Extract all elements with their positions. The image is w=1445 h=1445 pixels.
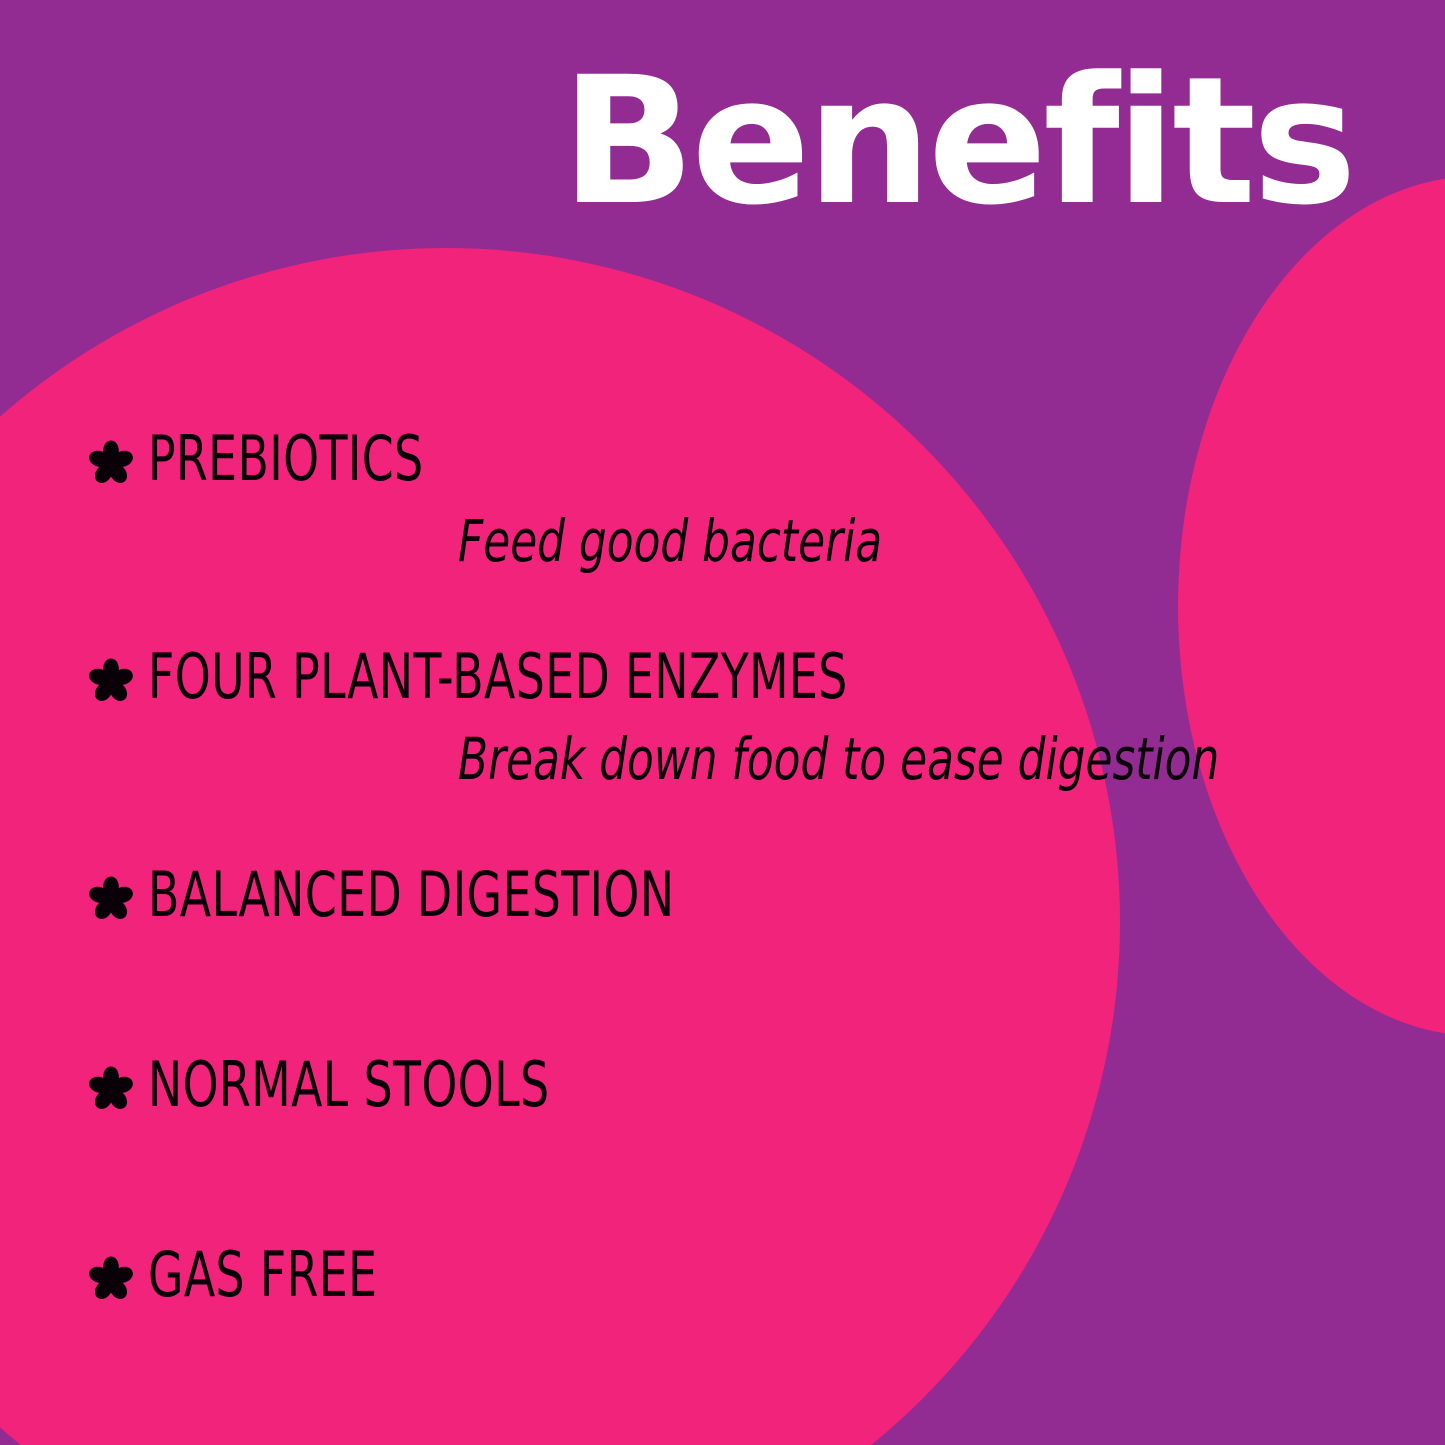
benefit-label: GAS FREE	[148, 1244, 377, 1306]
benefit-heading-row: FOUR PLANT-BASED ENZYMES	[88, 646, 1405, 708]
list-spacer	[88, 570, 1405, 646]
benefit-heading-row: NORMAL STOOLS	[88, 1054, 1405, 1116]
benefits-poster: Benefits PR	[0, 0, 1445, 1445]
benefits-list: PREBIOTICS Feed good bacteria	[88, 428, 1405, 1306]
page-title: Benefits	[0, 52, 1353, 232]
flower-bullet-icon	[88, 864, 140, 926]
benefit-label: BALANCED DIGESTION	[148, 864, 674, 926]
list-item: PREBIOTICS Feed good bacteria	[88, 428, 1405, 570]
list-item: BALANCED DIGESTION	[88, 864, 1405, 926]
list-spacer	[88, 788, 1405, 864]
benefit-subtext: Feed good bacteria	[458, 512, 1253, 570]
list-item: FOUR PLANT-BASED ENZYMES Break down food…	[88, 646, 1405, 788]
benefit-heading-row: PREBIOTICS	[88, 428, 1405, 490]
benefit-label: FOUR PLANT-BASED ENZYMES	[148, 646, 848, 708]
list-item: NORMAL STOOLS	[88, 1054, 1405, 1116]
flower-bullet-icon	[88, 1054, 140, 1116]
flower-bullet-icon	[88, 428, 140, 490]
list-spacer	[88, 1116, 1405, 1244]
flower-bullet-icon	[88, 646, 140, 708]
benefit-heading-row: GAS FREE	[88, 1244, 1405, 1306]
list-spacer	[88, 926, 1405, 1054]
benefit-subtext: Break down food to ease digestion	[458, 730, 1253, 788]
benefit-label: NORMAL STOOLS	[148, 1054, 550, 1116]
list-item: GAS FREE	[88, 1244, 1405, 1306]
flower-bullet-icon	[88, 1244, 140, 1306]
benefit-label: PREBIOTICS	[148, 428, 424, 490]
benefit-heading-row: BALANCED DIGESTION	[88, 864, 1405, 926]
